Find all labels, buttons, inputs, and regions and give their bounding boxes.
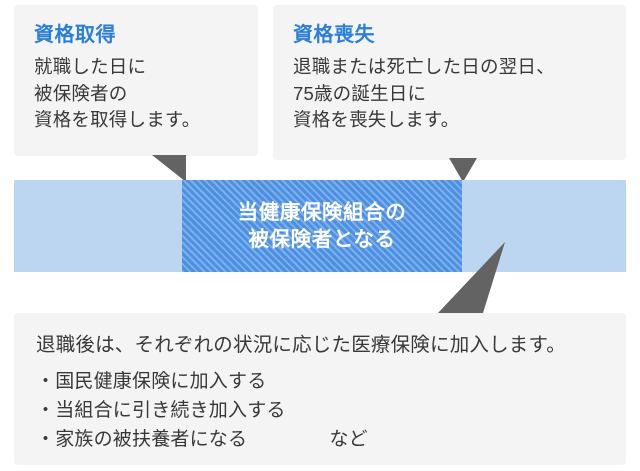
card-acquire-line-2: 被保険者の [34, 81, 258, 108]
card-acquire-line-1: 就職した日に [34, 54, 258, 81]
card-qualification-lose: 資格喪失 退職または死亡した日の翌日、 75歳の誕生日に 資格を喪失します。 [273, 5, 626, 160]
list-item: ・当組合に引き続き加入する [36, 396, 626, 425]
list-item: ・家族の被扶養者になる など [36, 425, 626, 454]
insured-status-band: 当健康保険組合の 被保険者となる [14, 180, 626, 272]
card-lose-line-3: 資格を喪失します。 [293, 107, 626, 134]
card-qualification-acquire: 資格取得 就職した日に 被保険者の 資格を取得します。 [14, 5, 258, 156]
card-acquire-line-3: 資格を取得します。 [34, 107, 258, 134]
card-acquire-heading: 資格取得 [34, 22, 258, 48]
after-retirement-options-list: ・国民健康保険に加入する ・当組合に引き続き加入する ・家族の被扶養者になる な… [36, 367, 626, 454]
card-lose-heading: 資格喪失 [293, 22, 626, 48]
down-arrow-icon-acquire-to-band [152, 155, 186, 182]
list-item: ・国民健康保険に加入する [36, 367, 626, 396]
down-arrow-icon-lose-to-band [449, 158, 477, 182]
card-after-retirement: 退職後は、それぞれの状況に応じた医療保険に加入します。 ・国民健康保険に加入する… [14, 313, 626, 465]
card-lose-line-2: 75歳の誕生日に [293, 81, 626, 108]
card-after-lead: 退職後は、それぞれの状況に応じた医療保険に加入します。 [36, 332, 626, 359]
insurance-eligibility-diagram: 資格取得 就職した日に 被保険者の 資格を取得します。 資格喪失 退職または死亡… [0, 0, 640, 471]
insured-status-line-2: 被保険者となる [248, 226, 395, 253]
up-right-arrow-icon-band-to-after [432, 238, 512, 316]
insured-status-line-1: 当健康保険組合の [238, 199, 407, 226]
insured-status-highlight: 当健康保険組合の 被保険者となる [182, 180, 462, 272]
card-lose-line-1: 退職または死亡した日の翌日、 [293, 54, 626, 81]
